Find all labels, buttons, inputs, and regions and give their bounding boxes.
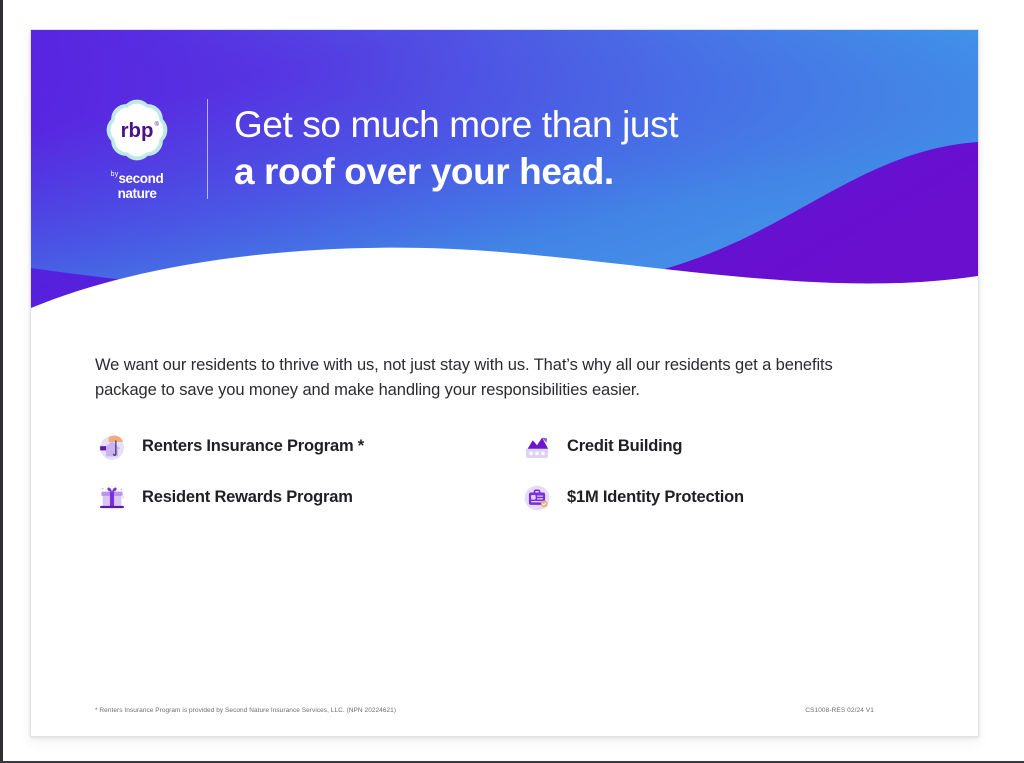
- body-area: We want our residents to thrive with us,…: [31, 308, 978, 515]
- left-edge-strip: [0, 0, 3, 763]
- headline-line-2: a roof over your head.: [234, 150, 678, 194]
- benefit-item-identity-protection: $1M Identity Protection: [520, 481, 914, 515]
- brand-line-1: second: [118, 171, 163, 186]
- hero-headline: Get so much more than just a roof over y…: [234, 103, 678, 194]
- bank-building-icon: [520, 430, 554, 464]
- benefit-label: $1M Identity Protection: [567, 488, 744, 507]
- rbp-mark-text: rbp: [121, 120, 154, 142]
- hero-divider: [207, 99, 208, 199]
- id-briefcase-icon: [520, 481, 554, 515]
- benefit-label: Renters Insurance Program *: [142, 437, 364, 456]
- footnote-text: * Renters Insurance Program is provided …: [95, 707, 396, 714]
- benefit-item-credit-building: Credit Building: [520, 430, 914, 464]
- document-footer: * Renters Insurance Program is provided …: [31, 707, 978, 714]
- benefit-label: Credit Building: [567, 437, 682, 456]
- benefit-item-renters-insurance: Renters Insurance Program *: [95, 430, 520, 464]
- hero-banner: rbp ® bysecond nature Get so much more t…: [31, 30, 978, 308]
- benefits-grid: Renters Insurance Program * Credit Build…: [95, 430, 914, 515]
- gift-box-icon: [95, 481, 129, 515]
- rbp-registered-mark: ®: [154, 121, 159, 128]
- document-code: CS1008-RES 02/24 V1: [805, 707, 874, 714]
- headline-line-1: Get so much more than just: [234, 103, 678, 147]
- brand-line-2: nature: [111, 187, 164, 201]
- umbrella-house-icon: [95, 430, 129, 464]
- by-second-nature-wordmark: bysecond nature: [111, 171, 164, 201]
- intro-paragraph: We want our residents to thrive with us,…: [95, 353, 885, 403]
- benefit-item-resident-rewards: Resident Rewards Program: [95, 481, 520, 515]
- benefit-label: Resident Rewards Program: [142, 488, 353, 507]
- rbp-badge-icon: rbp ®: [103, 96, 171, 164]
- document-card: rbp ® bysecond nature Get so much more t…: [30, 29, 979, 737]
- rbp-starburst-mark: rbp ®: [103, 96, 171, 164]
- rbp-logo: rbp ® bysecond nature: [89, 96, 185, 201]
- hero-content: rbp ® bysecond nature Get so much more t…: [89, 96, 678, 201]
